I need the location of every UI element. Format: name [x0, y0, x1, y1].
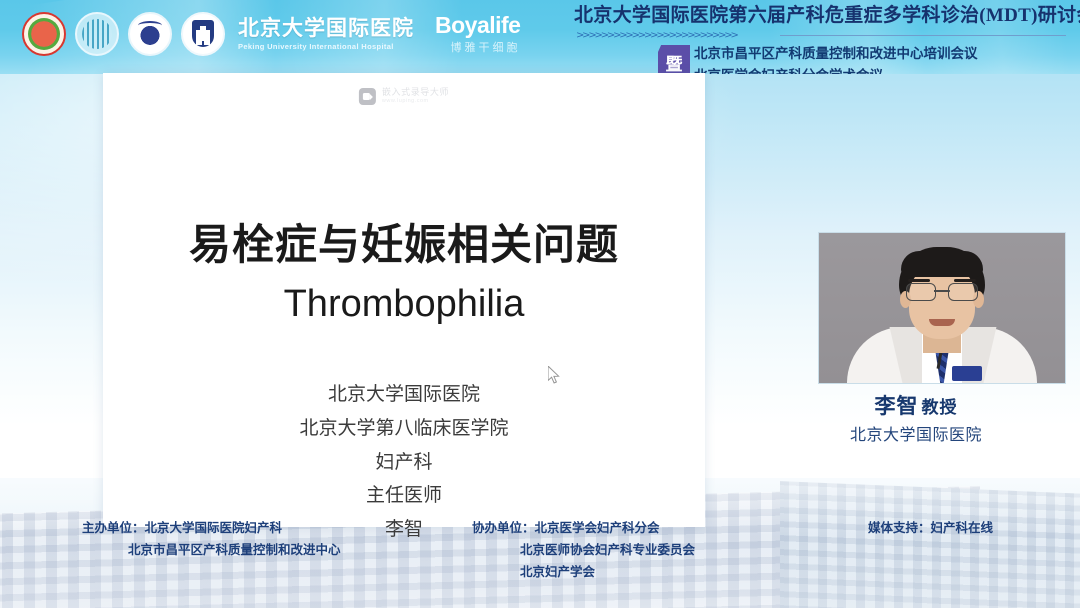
- top-banner: 北京大学国际医院 Peking University International…: [0, 0, 1080, 74]
- recorder-watermark: 嵌入式录导大师 www.luping.com: [359, 88, 449, 105]
- conference-title: 北京大学国际医院第六届产科危重症多学科诊治(MDT)研讨会: [574, 4, 1066, 28]
- conference-subtitle-1: 北京市昌平区产科质量控制和改进中心培训会议: [694, 43, 1066, 65]
- conference-subtitles: 暨 北京市昌平区产科质量控制和改进中心培训会议 北京医学会妇产科分会学术会议 北…: [574, 43, 1066, 74]
- sponsor-name-cn: 博雅干细胞: [435, 39, 520, 55]
- watermark-url: www.luping.com: [382, 99, 449, 105]
- sponsor-logo: Boyalife 博雅干细胞: [435, 14, 520, 55]
- speaker-organization: 北京大学国际医院: [760, 421, 1072, 445]
- hospital-name-en: Peking University International Hospital: [238, 42, 414, 51]
- slide-title-cn: 易栓症与妊娠相关问题: [103, 223, 705, 269]
- slide-title-en: Thrombophilia: [103, 283, 705, 327]
- footer-organizer-line-2: 北京市昌平区产科质量控制和改进中心: [82, 540, 341, 562]
- footer-organizer-line-1: 主办单位：北京大学国际医院妇产科: [82, 518, 341, 540]
- presentation-stream: 北京大学国际医院 Peking University International…: [0, 0, 1080, 608]
- speaker-degree: 教授: [922, 398, 958, 417]
- footer-co-organizer-line-2: 北京医师协会妇产科专业委员会: [472, 540, 695, 562]
- emblem-blue-ring-icon: [75, 12, 119, 56]
- video-camera-icon: [359, 88, 376, 105]
- emblem-navy-crest-icon: [128, 12, 172, 56]
- footer-bar: 主办单位：北京大学国际医院妇产科 北京市昌平区产科质量控制和改进中心 协办单位：…: [0, 478, 1080, 608]
- watermark-title: 嵌入式录导大师: [382, 88, 449, 97]
- ji-badge: 暨: [658, 45, 690, 74]
- conference-subtitle-2: 北京医学会妇产科分会学术会议: [694, 65, 1066, 74]
- footer-co-organizer: 协办单位：北京医学会妇产科分会 北京医师协会妇产科专业委员会 北京妇产学会: [472, 518, 695, 584]
- hospital-name-cn: 北京大学国际医院: [238, 17, 414, 39]
- speaker-name-text: 李智: [875, 395, 919, 418]
- emblem-shield-laurel-icon: [181, 12, 225, 56]
- footer-media-line-1: 媒体支持：妇产科在线: [868, 518, 993, 540]
- speaker-photo: [818, 232, 1066, 384]
- footer-co-organizer-line-1: 协办单位：北京医学会妇产科分会: [472, 518, 695, 540]
- speaker-name: 李智教授: [760, 390, 1072, 420]
- slide-body-line-1: 北京大学国际医院: [103, 378, 705, 412]
- slide-body-line-3: 妇产科: [103, 446, 705, 480]
- slide-view[interactable]: 嵌入式录导大师 www.luping.com 易栓症与妊娠相关问题 Thromb…: [103, 73, 705, 527]
- chevron-decoration: >>>>>>>>>>>>>>>>>>>>>>>>>>: [576, 30, 772, 41]
- footer-organizer: 主办单位：北京大学国际医院妇产科 北京市昌平区产科质量控制和改进中心: [82, 518, 341, 562]
- mouse-cursor: [548, 366, 561, 385]
- footer-co-organizer-line-3: 北京妇产学会: [472, 562, 695, 584]
- footer-media-support: 媒体支持：妇产科在线: [868, 518, 993, 540]
- hospital-logo: 北京大学国际医院 Peking University International…: [238, 17, 414, 50]
- sponsor-name-en: Boyalife: [435, 14, 520, 37]
- conference-divider: >>>>>>>>>>>>>>>>>>>>>>>>>>: [574, 29, 1066, 41]
- emblem-red-green-icon: [22, 12, 66, 56]
- logo-row: 北京大学国际医院 Peking University International…: [22, 12, 520, 56]
- slide-body-line-2: 北京大学第八临床医学院: [103, 412, 705, 446]
- conference-header: 北京大学国际医院第六届产科危重症多学科诊治(MDT)研讨会 >>>>>>>>>>…: [574, 4, 1066, 74]
